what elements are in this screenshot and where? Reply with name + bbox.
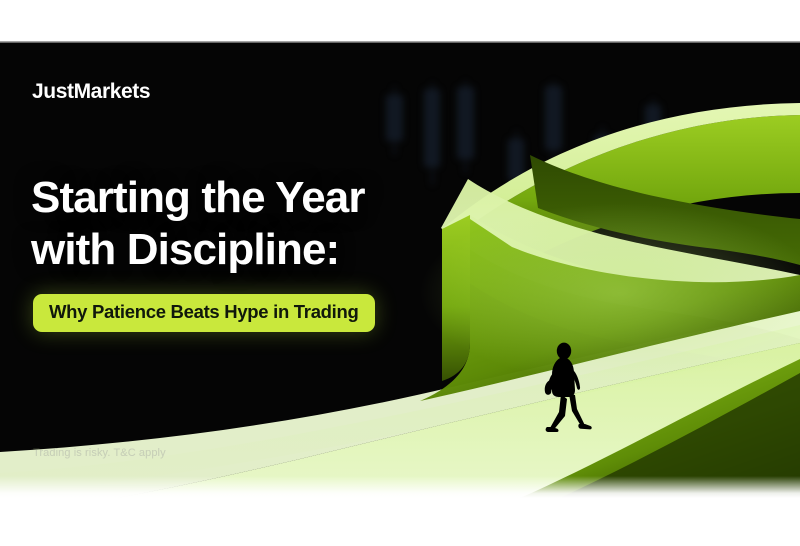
headline-line-1: Starting the Year	[31, 172, 365, 224]
page-title: Starting the Year with Discipline:	[31, 172, 365, 276]
promo-banner[interactable]: JustMarkets Starting the Year with Disci…	[0, 43, 800, 498]
risk-disclaimer: Trading is risky. T&C apply	[33, 447, 166, 459]
walking-person-silhouette	[536, 342, 598, 434]
page-canvas: JustMarkets Starting the Year with Disci…	[0, 0, 800, 546]
subtitle-highlight-pill: Why Patience Beats Hype in Trading	[33, 294, 375, 332]
justmarkets-logo[interactable]: JustMarkets	[32, 80, 150, 104]
headline-line-2: with Discipline:	[31, 224, 365, 276]
